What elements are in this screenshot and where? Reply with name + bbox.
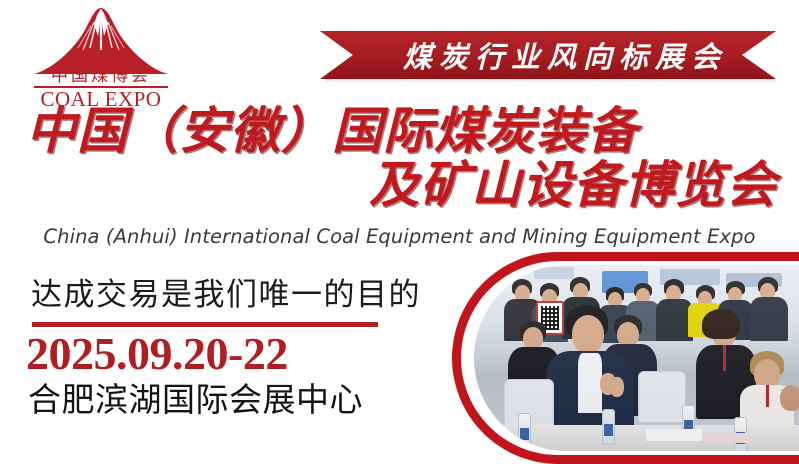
ribbon-right-notch-icon: [742, 31, 776, 79]
ribbon-shadow: [326, 79, 776, 83]
coal-expo-logo: 中国煤博会 COAL EXPO: [26, 6, 176, 106]
slogan-text: 达成交易是我们唯一的目的: [31, 276, 421, 314]
slogan-divider: [32, 322, 378, 327]
tagline-ribbon: 煤炭行业风向标展会: [320, 31, 776, 79]
event-date: 2025.09.20-22: [26, 328, 288, 380]
audience-photo-frame: [452, 252, 799, 464]
audience-photo-clip: [474, 265, 799, 451]
page-title: 中国（安徽）国际煤炭装备 及矿山设备博览会: [0, 104, 799, 212]
logo-chinese-text: 中国煤博会: [26, 66, 176, 86]
tagline-ribbon-text: 煤炭行业风向标展会: [369, 34, 727, 76]
audience-photo: [474, 265, 799, 451]
event-venue: 合肥滨湖国际会展中心: [28, 380, 363, 420]
expo-banner-poster: 中国煤博会 COAL EXPO 煤炭行业风向标展会 中国（安徽）国际煤炭装备 及…: [0, 0, 799, 464]
page-title-line-2: 及矿山设备博览会: [0, 158, 799, 212]
page-title-line-1: 中国（安徽）国际煤炭装备: [0, 104, 799, 158]
english-subtitle: China (Anhui) International Coal Equipme…: [0, 225, 799, 248]
